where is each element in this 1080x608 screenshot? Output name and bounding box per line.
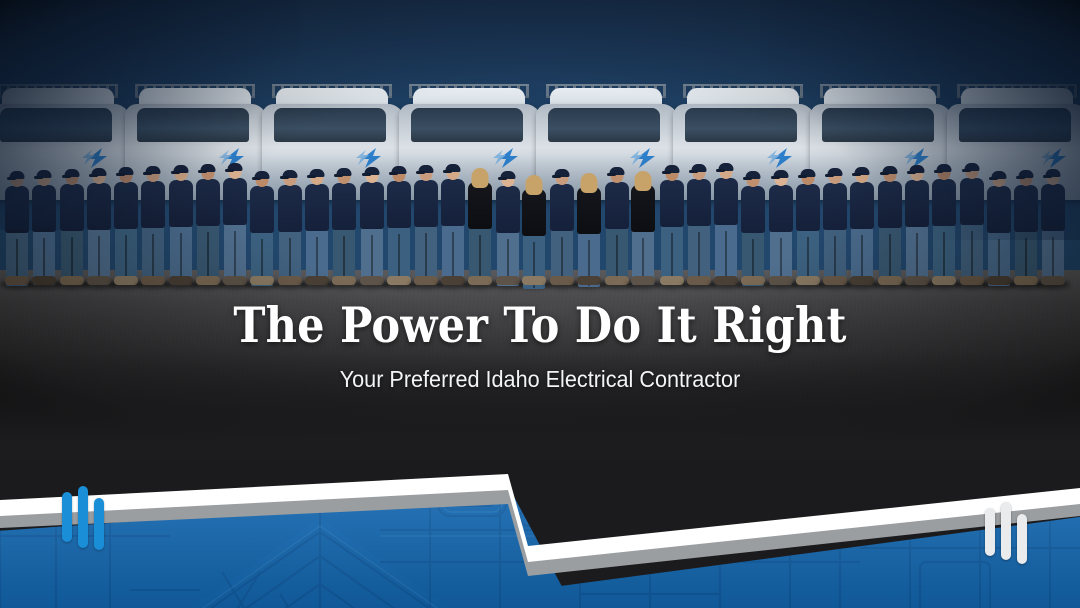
person-leg-split — [371, 235, 373, 281]
person-polo-shirt — [577, 187, 601, 234]
person-shoes — [932, 276, 956, 285]
person-shoes — [360, 276, 384, 285]
person-shoes — [414, 276, 438, 285]
person-shoes — [631, 276, 655, 285]
corner-shadow-left — [0, 0, 300, 230]
person-cap-brim — [662, 171, 671, 174]
person-shoes — [960, 276, 984, 285]
hero-banner-stage: The Power To Do It Right Your Preferred … — [0, 0, 1080, 608]
person-leg-split — [889, 234, 891, 280]
team-member — [522, 176, 546, 285]
person-hair — [471, 168, 488, 188]
person-polo-shirt — [631, 185, 655, 232]
person-shoes — [878, 276, 902, 285]
person-leg-split — [398, 234, 400, 280]
person-shoes — [223, 276, 247, 285]
person-shoes — [278, 276, 302, 285]
team-member — [495, 173, 521, 285]
person-leg-split — [207, 232, 209, 278]
person-hair — [526, 175, 543, 195]
person-shoes — [169, 276, 193, 285]
person-shoes — [796, 276, 820, 285]
team-member — [468, 169, 492, 285]
person-shoes — [114, 276, 138, 285]
person-polo-shirt — [522, 189, 546, 236]
person-polo-shirt — [387, 181, 411, 228]
person-shoes — [987, 276, 1011, 285]
person-polo-shirt — [468, 182, 492, 229]
person-shoes — [468, 276, 492, 285]
person-shoes — [823, 276, 847, 285]
page-title: The Power To Do It Right — [65, 300, 1015, 352]
person-shoes — [769, 276, 793, 285]
team-member — [413, 167, 439, 285]
team-member — [304, 171, 330, 285]
team-member — [549, 171, 575, 285]
person-cap-brim — [716, 169, 725, 172]
person-polo-shirt — [360, 182, 384, 229]
person-leg-split — [671, 233, 673, 279]
person-cap-brim — [389, 172, 398, 175]
team-member — [631, 172, 655, 285]
person-polo-shirt — [496, 186, 520, 233]
person-leg-split — [234, 231, 236, 277]
person-leg-split — [698, 232, 700, 278]
person-leg-split — [479, 235, 481, 281]
person-cap-brim — [689, 170, 698, 173]
team-member — [604, 169, 630, 285]
person-leg-split — [125, 235, 127, 281]
team-member — [686, 166, 712, 285]
person-leg-split — [725, 231, 727, 277]
person-leg-split — [616, 235, 618, 281]
team-member — [713, 165, 739, 285]
person-polo-shirt — [441, 179, 465, 226]
person-leg-split — [861, 235, 863, 281]
person-polo-shirt — [687, 179, 711, 226]
person-cap-brim — [498, 177, 507, 180]
person-cap-brim — [334, 174, 343, 177]
person-shoes — [87, 276, 111, 285]
person-shoes — [1041, 276, 1065, 285]
person-shoes — [1014, 276, 1038, 285]
team-member — [577, 174, 601, 285]
person-leg-split — [452, 232, 454, 278]
corner-shadow-right — [760, 0, 1080, 240]
person-polo-shirt — [714, 178, 738, 225]
three-bars-mark-icon-left-bar-3 — [94, 498, 104, 550]
person-shoes — [250, 276, 274, 285]
person-cap-brim — [443, 170, 452, 173]
person-shoes — [60, 276, 84, 285]
person-shoes — [741, 276, 765, 285]
person-cap-brim — [362, 173, 371, 176]
person-shoes — [850, 276, 874, 285]
hero-subtitle: Your Preferred Idaho Electrical Contract… — [32, 366, 1047, 393]
three-bars-mark-icon-right-bar-2 — [1001, 502, 1011, 560]
bottom-banner: 15 STD 19.1 — [0, 470, 1080, 608]
person-cap-brim — [307, 175, 316, 178]
team-member — [359, 169, 385, 285]
person-polo-shirt — [660, 180, 684, 227]
person-leg-split — [152, 234, 154, 280]
three-bars-mark-icon-left-bar-1 — [62, 492, 72, 542]
person-polo-shirt — [550, 184, 574, 231]
person-cap-brim — [416, 171, 425, 174]
person-shoes — [332, 276, 356, 285]
person-cap-brim — [552, 175, 561, 178]
person-shoes — [141, 276, 165, 285]
hero-photo — [0, 0, 1080, 470]
person-shoes — [660, 276, 684, 285]
person-cap-brim — [743, 177, 752, 180]
person-leg-split — [425, 233, 427, 279]
person-shoes — [387, 276, 411, 285]
person-polo-shirt — [332, 183, 356, 230]
team-member — [440, 166, 466, 285]
hero-copy: The Power To Do It Right Your Preferred … — [0, 300, 1080, 393]
person-shoes — [32, 276, 56, 285]
banner-marks — [0, 470, 1080, 608]
person-polo-shirt — [305, 184, 329, 231]
person-leg-split — [180, 233, 182, 279]
person-shoes — [577, 276, 601, 285]
person-polo-shirt — [414, 180, 438, 227]
three-bars-mark-icon-right-bar-1 — [985, 508, 995, 556]
person-hair — [635, 171, 652, 191]
person-hair — [580, 173, 597, 193]
person-shoes — [5, 276, 29, 285]
person-polo-shirt — [605, 182, 629, 229]
team-member — [659, 167, 685, 285]
three-bars-mark-icon-right-bar-3 — [1017, 514, 1027, 564]
person-shoes — [305, 276, 329, 285]
person-cap-brim — [607, 173, 616, 176]
team-member — [331, 170, 357, 285]
team-member — [386, 168, 412, 285]
person-shoes — [905, 276, 929, 285]
person-shoes — [196, 276, 220, 285]
person-shoes — [687, 276, 711, 285]
person-shoes — [714, 276, 738, 285]
three-bars-mark-icon-left-bar-2 — [78, 486, 88, 548]
person-shoes — [522, 276, 546, 285]
